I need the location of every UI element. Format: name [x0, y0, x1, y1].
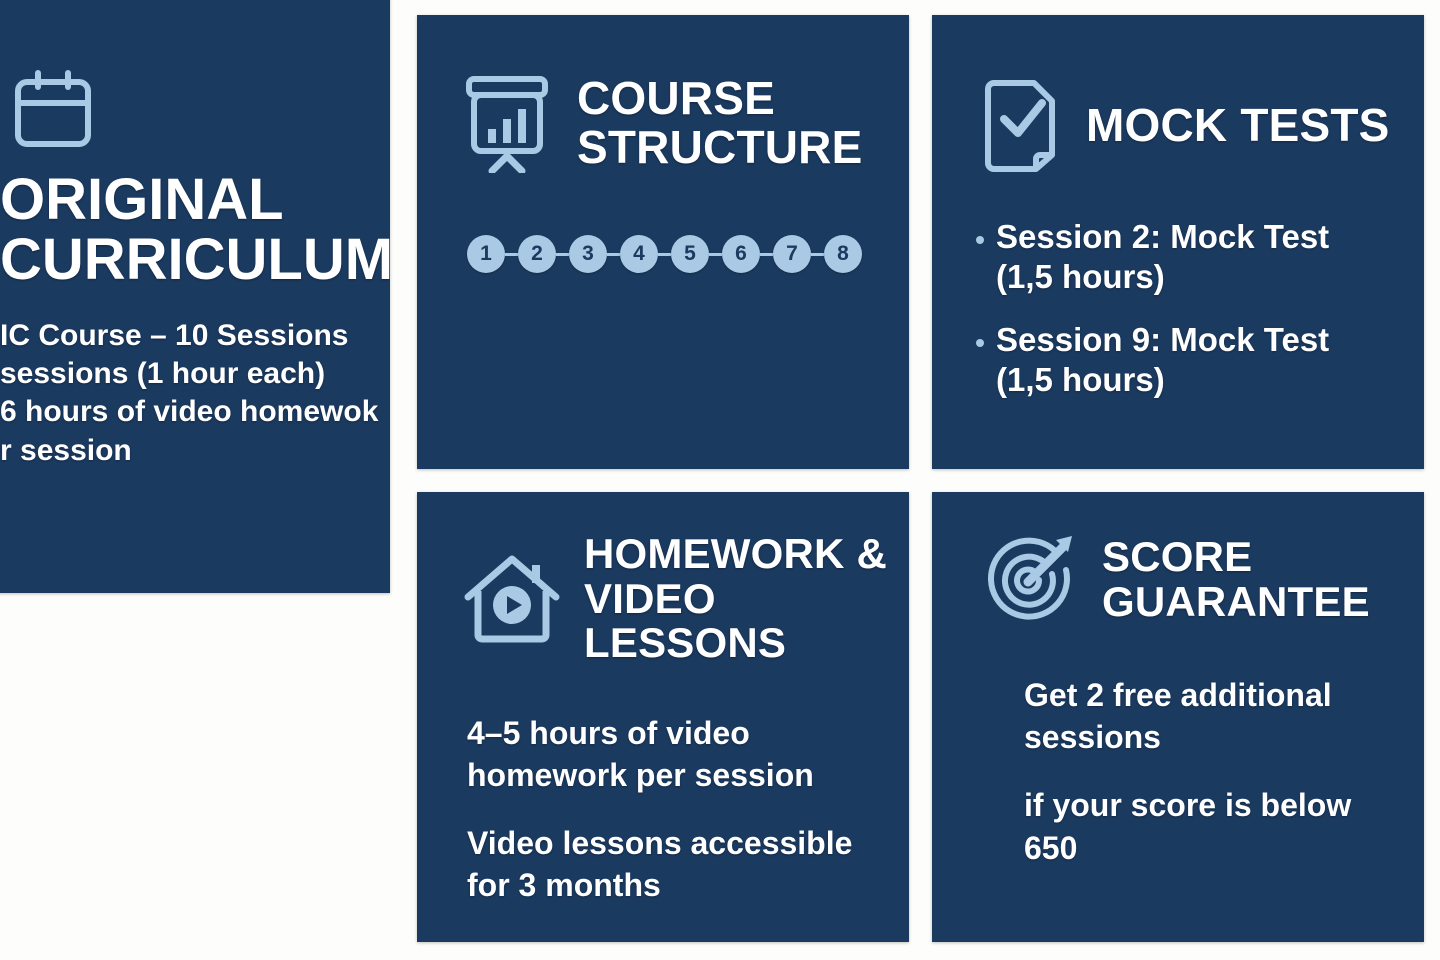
score-guarantee-body: Get 2 free additional sessions if your s… — [1024, 674, 1424, 869]
cards-grid: ORIGINAL CURRICULUM IC Course – 10 Sessi… — [0, 0, 1440, 960]
mock-tests-bullet-1: Session 2: Mock Test (1,5 hours) — [996, 217, 1376, 298]
mock-tests-bullet-2: Session 9: Mock Test (1,5 hours) — [996, 320, 1376, 401]
curriculum-title-line1: ORIGINAL — [0, 170, 390, 230]
card-original-curriculum: ORIGINAL CURRICULUM IC Course – 10 Sessi… — [0, 0, 390, 593]
curriculum-lines: IC Course – 10 Sessions sessions (1 hour… — [0, 317, 390, 471]
score-guarantee-title: SCORE GUARANTEE — [1102, 535, 1402, 624]
list-item: Session 9: Mock Test (1,5 hours) — [976, 320, 1424, 401]
bullet-dot-icon — [976, 339, 984, 347]
list-item: Session 2: Mock Test (1,5 hours) — [976, 217, 1424, 298]
score-guarantee-title-line1: SCORE — [1102, 535, 1402, 580]
course-structure-title-line2: STRUCTURE — [577, 123, 877, 172]
step-circle-5[interactable]: 5 — [671, 235, 709, 273]
step-circle-1[interactable]: 1 — [467, 235, 505, 273]
homework-title-line2: VIDEO LESSONS — [584, 577, 909, 666]
card-mock-tests: MOCK TESTS Session 2: Mock Test (1,5 hou… — [932, 15, 1424, 469]
step-circle-7[interactable]: 7 — [773, 235, 811, 273]
step-connector — [658, 253, 671, 256]
step-connector — [760, 253, 773, 256]
homework-paragraph-2: Video lessons accessible for 3 months — [467, 822, 877, 906]
step-circle-4[interactable]: 4 — [620, 235, 658, 273]
step-connector — [811, 253, 824, 256]
curriculum-line-1: IC Course – 10 Sessions — [0, 317, 390, 355]
homework-body: 4–5 hours of video homework per session … — [467, 712, 909, 907]
score-guarantee-header: SCORE GUARANTEE — [932, 492, 1424, 630]
homework-header: HOMEWORK & VIDEO LESSONS — [417, 492, 909, 666]
course-structure-title-line1: COURSE — [577, 74, 877, 123]
curriculum-line-2: sessions (1 hour each) — [0, 355, 390, 393]
curriculum-line-3: 6 hours of video homewok — [0, 393, 390, 431]
step-connector — [709, 253, 722, 256]
presentation-chart-icon — [459, 73, 555, 173]
document-check-icon — [980, 75, 1064, 175]
curriculum-title-line2: CURRICULUM — [0, 230, 390, 290]
mock-tests-bullets: Session 2: Mock Test (1,5 hours) Session… — [976, 217, 1424, 400]
score-guarantee-title-line2: GUARANTEE — [1102, 580, 1402, 625]
bullet-dot-icon — [976, 236, 984, 244]
house-play-icon — [462, 549, 562, 649]
step-circle-6[interactable]: 6 — [722, 235, 760, 273]
curriculum-line-4: r session — [0, 432, 390, 470]
card-course-structure: COURSE STRUCTURE 1 2 3 4 5 6 7 8 — [417, 15, 909, 469]
step-circle-3[interactable]: 3 — [569, 235, 607, 273]
homework-paragraph-1: 4–5 hours of video homework per session — [467, 712, 877, 796]
score-guarantee-paragraph-2: if your score is below 650 — [1024, 784, 1374, 868]
step-circle-8[interactable]: 8 — [824, 235, 862, 273]
homework-title: HOMEWORK & VIDEO LESSONS — [584, 532, 909, 666]
calendar-icon — [10, 66, 390, 152]
target-dart-icon — [980, 530, 1080, 630]
course-structure-header: COURSE STRUCTURE — [417, 15, 909, 173]
card-homework-video-lessons: HOMEWORK & VIDEO LESSONS 4–5 hours of vi… — [417, 492, 909, 942]
course-structure-steps: 1 2 3 4 5 6 7 8 — [467, 235, 909, 273]
card-score-guarantee: SCORE GUARANTEE Get 2 free additional se… — [932, 492, 1424, 942]
step-connector — [556, 253, 569, 256]
step-connector — [505, 253, 518, 256]
mock-tests-title: MOCK TESTS — [1086, 101, 1390, 150]
course-structure-title: COURSE STRUCTURE — [577, 74, 877, 172]
step-circle-2[interactable]: 2 — [518, 235, 556, 273]
mock-tests-header: MOCK TESTS — [932, 15, 1424, 175]
homework-title-line1: HOMEWORK & — [584, 532, 909, 577]
step-connector — [607, 253, 620, 256]
score-guarantee-paragraph-1: Get 2 free additional sessions — [1024, 674, 1374, 758]
